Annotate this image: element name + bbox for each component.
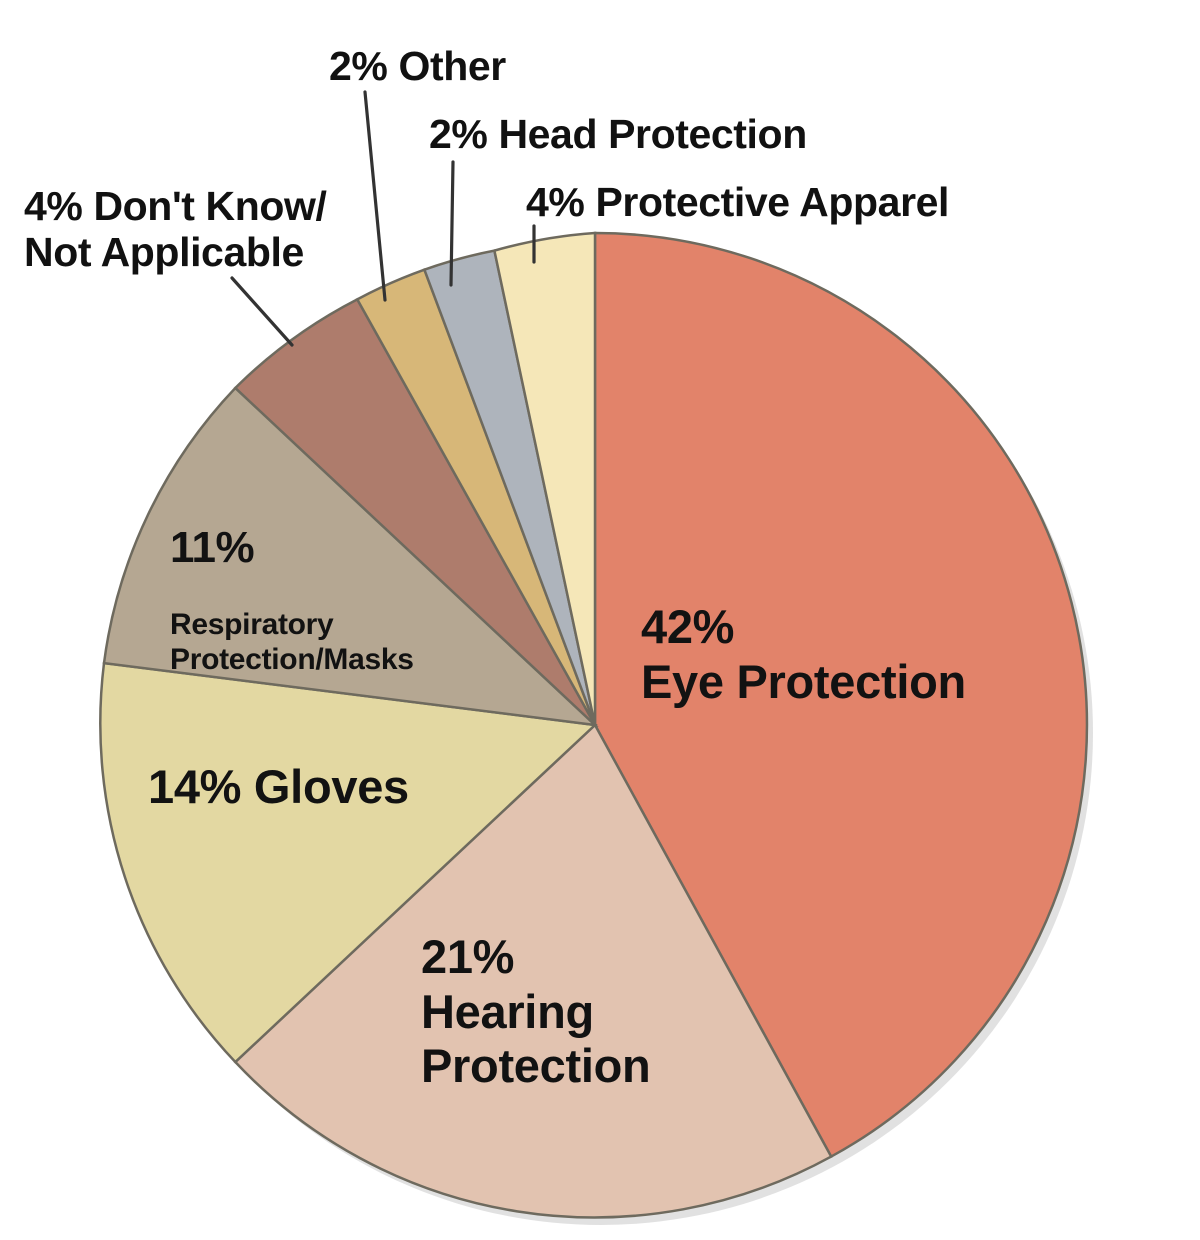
slice-label-respiratory-name: Respiratory Protection/Masks (170, 608, 414, 676)
slice-label-gloves: 14% Gloves (148, 760, 409, 815)
slice-label-respiratory-protection: 11% Respiratory Protection/Masks (170, 490, 414, 678)
slice-label-hearing-protection: 21% Hearing Protection (421, 930, 650, 1094)
leader-line-dont-know (232, 278, 292, 345)
callout-label-dont-know-not-applicable: 4% Don't Know/ Not Applicable (24, 184, 327, 276)
slice-label-respiratory-percent: 11% (170, 525, 414, 571)
pie-chart: 2% Other 2% Head Protection 4% Protectiv… (0, 0, 1200, 1240)
leader-line-head-protection (451, 162, 453, 285)
callout-label-protective-apparel: 4% Protective Apparel (526, 180, 949, 226)
slice-label-eye-protection: 42% Eye Protection (641, 600, 966, 709)
callout-label-head-protection: 2% Head Protection (429, 112, 807, 158)
leader-line-other (365, 92, 385, 300)
callout-label-other: 2% Other (329, 44, 506, 90)
